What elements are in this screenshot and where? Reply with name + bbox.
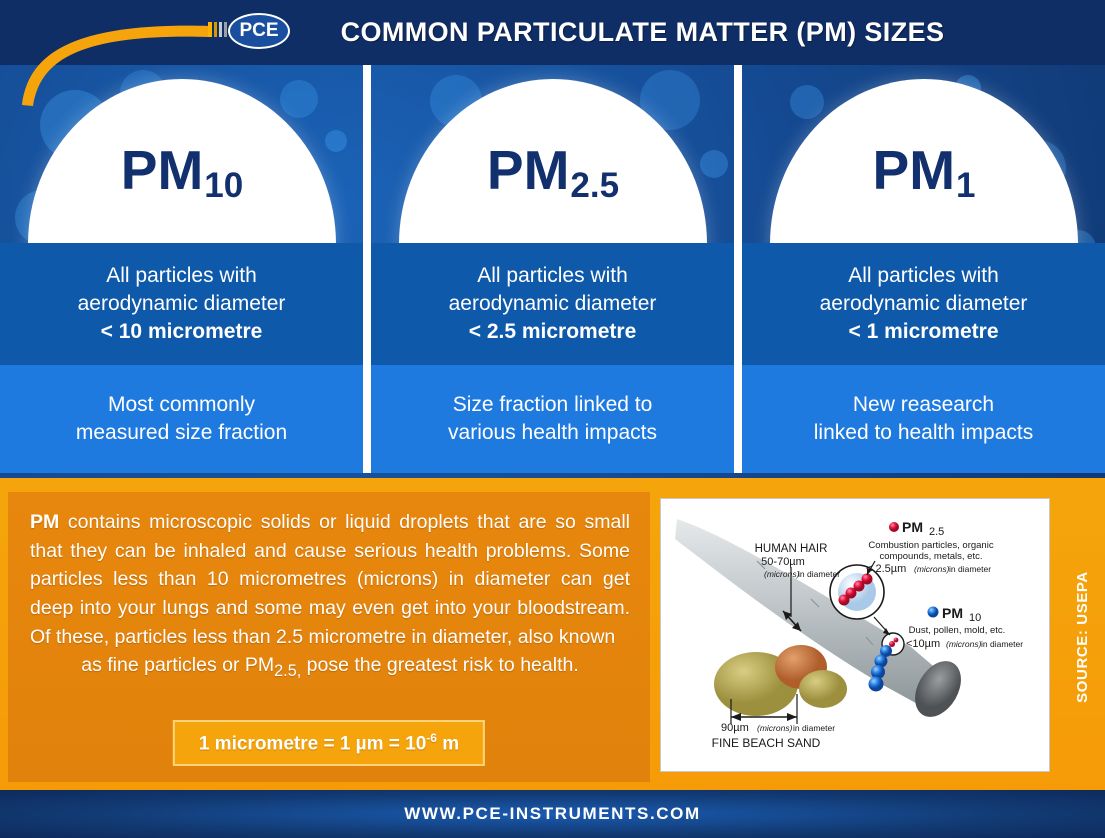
- pm25-def-line1: All particles with: [477, 262, 628, 290]
- sand-size: 90µm: [721, 722, 749, 734]
- infographic-page: PCE COMMON PARTICULATE MATTER (PM) SIZES…: [0, 0, 1105, 838]
- pm1-symbol: PM1: [742, 143, 1105, 198]
- pm10-legend-title: PM: [942, 605, 963, 621]
- page-title: COMMON PARTICULATE MATTER (PM) SIZES: [0, 0, 1105, 65]
- pm1-def-line1: All particles with: [848, 262, 999, 290]
- pm10-def-line3: < 10 micrometre: [101, 318, 263, 346]
- pm10-definition: All particles with aerodynamic diameter …: [0, 243, 363, 365]
- pm25-size-tail: in diameter: [949, 564, 991, 574]
- pm25-desc-line1: Combustion particles, organic: [868, 540, 993, 551]
- pm25-def-line2: aerodynamic diameter: [449, 290, 657, 318]
- pm1-note: New reasearch linked to health impacts: [742, 365, 1105, 473]
- pm1-symbol-text: PM: [873, 139, 956, 201]
- formula-text: 1 micrometre = 1 µm = 10: [199, 733, 426, 754]
- pm-cards-row: PM10 All particles with aerodynamic diam…: [0, 65, 1105, 473]
- info-lastline-b: pose the greatest risk to health.: [301, 654, 579, 676]
- pm25-note-line1: Size fraction linked to: [453, 391, 653, 419]
- pm1-definition: All particles with aerodynamic diameter …: [742, 243, 1105, 365]
- pm25-note: Size fraction linked to various health i…: [371, 365, 734, 473]
- card-divider-1: [363, 65, 371, 473]
- pm25-desc-line2: compounds, metals, etc.: [880, 551, 983, 562]
- info-lastline-sub: 2.5,: [274, 662, 301, 680]
- pm25-legend-dot: [889, 522, 899, 532]
- pm10-size-text: <10µm: [906, 638, 940, 650]
- pm1-note-line2: linked to health impacts: [814, 419, 1033, 447]
- pm25-legend-title: PM: [902, 519, 923, 535]
- pm25-subscript: 2.5: [570, 166, 619, 205]
- pm10-symbol: PM10: [0, 143, 363, 198]
- pm25-dome-wrap: PM2.5: [371, 65, 734, 243]
- pm10-legend-dot: [928, 607, 939, 618]
- formula-exponent: -6: [426, 731, 437, 745]
- pm10-def-line2: aerodynamic diameter: [78, 290, 286, 318]
- formula-unit: m: [437, 733, 459, 754]
- info-lead-bold: PM: [30, 511, 59, 533]
- pm10-size-ital: (microns): [946, 639, 982, 649]
- pm25-size-ital: (microns): [914, 564, 950, 574]
- hair-size: 50-70µm: [761, 556, 805, 568]
- pm25-size-text: < 2.5µm: [866, 563, 906, 575]
- pm10-dome-wrap: PM10: [0, 65, 363, 243]
- source-label: SOURCE: USEPA: [1074, 571, 1091, 703]
- usepa-diagram: PM 2.5 Combustion particles, organic com…: [660, 498, 1050, 772]
- pm25-symbol: PM2.5: [371, 143, 734, 198]
- unit-formula-box: 1 micrometre = 1 µm = 10-6 m: [173, 720, 485, 766]
- sand-size-ital: (microns): [757, 723, 793, 733]
- pm25-definition: All particles with aerodynamic diameter …: [371, 243, 734, 365]
- pm10-note: Most commonly measured size fraction: [0, 365, 363, 473]
- pm-card-pm10: PM10 All particles with aerodynamic diam…: [0, 65, 363, 473]
- orange-top-stripe: [0, 478, 1105, 484]
- sand-grain-3: [799, 670, 847, 708]
- info-paragraph-body: contains microscopic solids or liquid dr…: [30, 511, 630, 648]
- footer-url[interactable]: WWW.PCE-INSTRUMENTS.COM: [404, 804, 701, 824]
- hair-label: HUMAN HAIR: [755, 543, 828, 555]
- pm1-def-line3: < 1 micrometre: [849, 318, 999, 346]
- pm1-def-line2: aerodynamic diameter: [820, 290, 1028, 318]
- info-lastline-a: as fine particles or PM: [81, 654, 274, 676]
- usepa-diagram-svg: PM 2.5 Combustion particles, organic com…: [661, 499, 1050, 772]
- pm10-legend-sub: 10: [969, 612, 981, 624]
- pm1-subscript: 1: [956, 166, 975, 205]
- pm10-desc-line1: Dust, pollen, mold, etc.: [909, 625, 1006, 636]
- info-text-panel: PM contains microscopic solids or liquid…: [8, 492, 650, 782]
- pm1-note-line1: New reasearch: [853, 391, 994, 419]
- info-paragraph: PM contains microscopic solids or liquid…: [30, 508, 630, 684]
- pm-card-pm1: PM1 All particles with aerodynamic diame…: [742, 65, 1105, 473]
- pm25-legend-sub: 2.5: [929, 526, 944, 538]
- pm1-dome-wrap: PM1: [742, 65, 1105, 243]
- sand-label: FINE BEACH SAND: [712, 736, 821, 750]
- page-header: PCE COMMON PARTICULATE MATTER (PM) SIZES: [0, 0, 1105, 65]
- pm10-symbol-text: PM: [121, 139, 204, 201]
- pm10-size-tail: in diameter: [981, 639, 1023, 649]
- diagram-panel: PM 2.5 Combustion particles, organic com…: [650, 492, 1097, 782]
- sand-size-tail: in diameter: [793, 723, 835, 733]
- pm25-note-line2: various health impacts: [448, 419, 657, 447]
- hair-size-ital: (microns): [764, 569, 800, 579]
- card-divider-2: [734, 65, 742, 473]
- pm25-def-line3: < 2.5 micrometre: [469, 318, 637, 346]
- info-section: PM contains microscopic solids or liquid…: [8, 492, 1097, 782]
- page-footer: WWW.PCE-INSTRUMENTS.COM: [0, 790, 1105, 838]
- info-paragraph-lastline: as fine particles or PM2.5, pose the gre…: [30, 651, 630, 684]
- pm10-def-line1: All particles with: [106, 262, 257, 290]
- pm25-symbol-text: PM: [487, 139, 570, 201]
- pm10-subscript: 10: [204, 166, 243, 205]
- pm-card-pm25: PM2.5 All particles with aerodynamic dia…: [371, 65, 734, 473]
- pm10-note-line1: Most commonly: [108, 391, 255, 419]
- hair-size-tail: in diameter: [798, 569, 840, 579]
- pm10-note-line2: measured size fraction: [76, 419, 287, 447]
